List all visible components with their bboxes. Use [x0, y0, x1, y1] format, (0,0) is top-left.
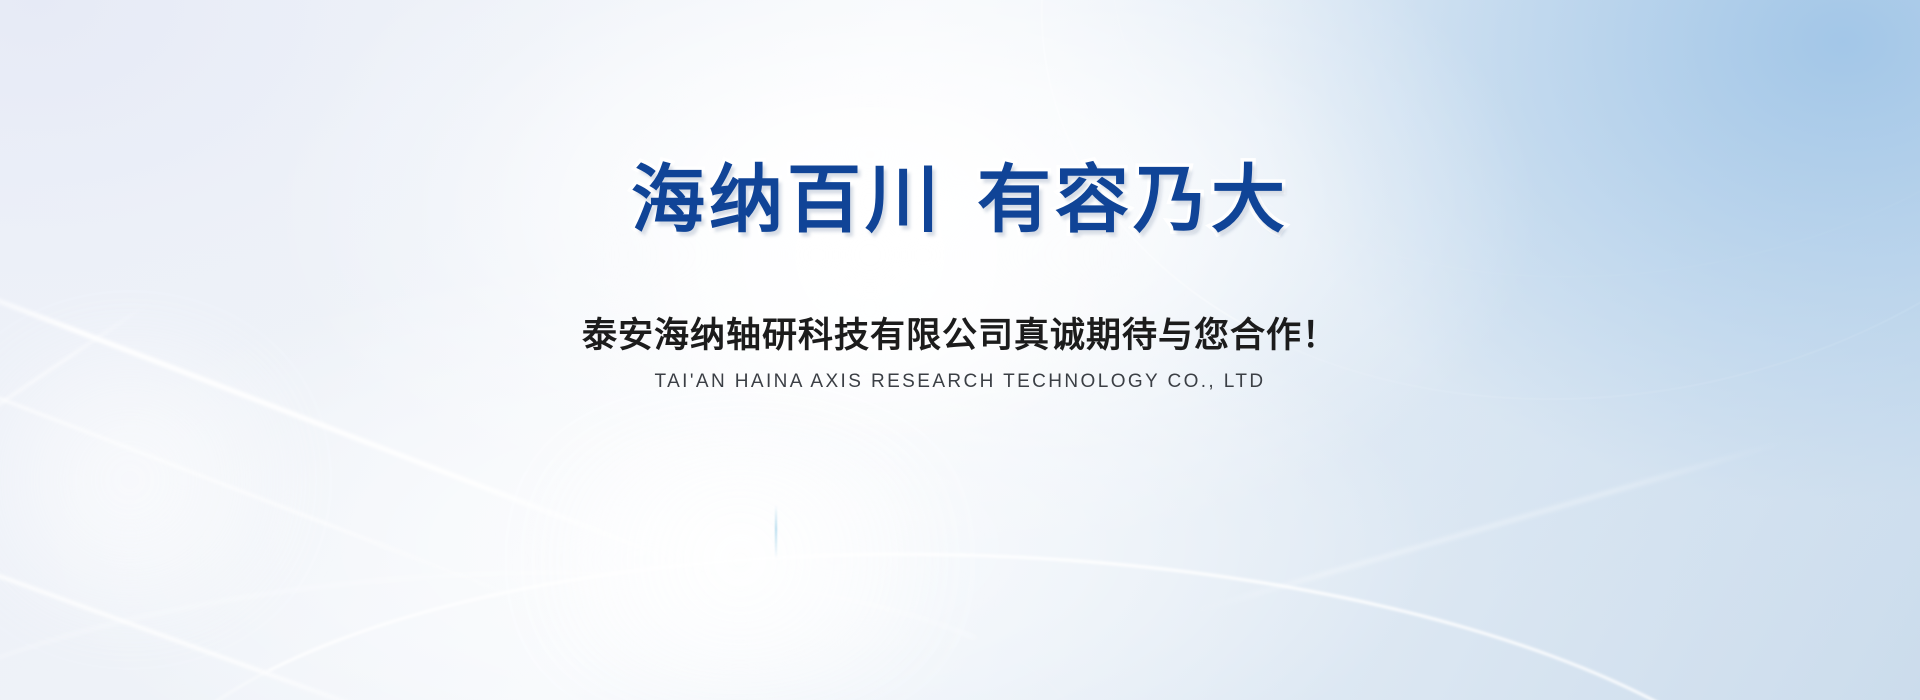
banner-subtitle-chinese: 泰安海纳轴研科技有限公司真诚期待与您合作！ — [582, 307, 1338, 358]
banner-subtitle-english: TAI'AN HAINA AXIS RESEARCH TECHNOLOGY CO… — [655, 371, 1266, 393]
banner-headline: 海纳百川有容乃大 — [631, 163, 1289, 237]
hero-banner: 海纳百川有容乃大 泰安海纳轴研科技有限公司真诚期待与您合作！ TAI'AN HA… — [0, 0, 1920, 700]
banner-headline-part-2: 有容乃大 — [977, 157, 1289, 243]
banner-content: 海纳百川有容乃大 泰安海纳轴研科技有限公司真诚期待与您合作！ TAI'AN HA… — [0, 0, 1920, 700]
banner-headline-part-1: 海纳百川 — [631, 157, 943, 243]
